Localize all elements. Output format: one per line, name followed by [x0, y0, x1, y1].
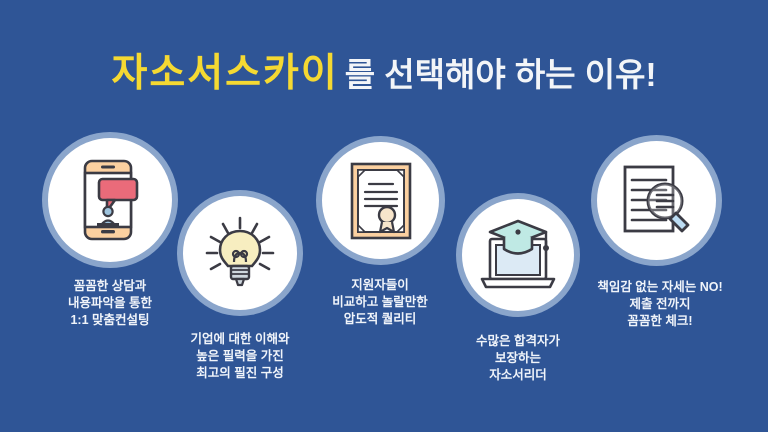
document-magnifier-icon	[619, 163, 695, 239]
title-brand: 자소서스카이	[111, 52, 338, 95]
caption-line: 자소서리더	[438, 367, 598, 384]
benefit-icon-circle-2	[183, 196, 297, 310]
caption-line: 압도적 퀄리티	[300, 311, 460, 328]
caption-line: 보장하는	[438, 350, 598, 367]
benefit-caption-1: 꼼꼼한 상담과 내용파악을 통한 1:1 맞춤컨설팅	[30, 278, 190, 329]
benefit-icon-circle-1	[48, 138, 172, 262]
infographic-slide: 자소서스카이를 선택해야 하는 이유! 꼼꼼한 상담과 내용파악	[0, 0, 768, 432]
caption-line: 꼼꼼한 상담과	[30, 278, 190, 295]
laptop-graduation-cap-icon	[476, 217, 560, 293]
caption-line: 내용파악을 통한	[30, 295, 190, 312]
benefit-caption-2: 기업에 대한 이해와 높은 필력을 가진 최고의 필진 구성	[160, 331, 320, 382]
smartphone-chat-icon	[77, 159, 143, 241]
caption-line: 비교하고 놀랄만한	[300, 294, 460, 311]
benefit-caption-3: 지원자들이 비교하고 놀랄만한 압도적 퀄리티	[300, 277, 460, 328]
lightbulb-icon	[201, 214, 279, 292]
certificate-icon	[350, 162, 412, 240]
caption-line: 지원자들이	[300, 277, 460, 294]
benefit-icon-circle-4	[462, 199, 574, 311]
caption-line: 제출 전까지	[575, 296, 745, 313]
benefit-icon-circle-3	[322, 142, 439, 259]
caption-line: 높은 필력을 가진	[160, 348, 320, 365]
caption-line: 꼼꼼한 체크!	[575, 313, 745, 330]
title-rest: 를 선택해야 하는 이유!	[345, 56, 657, 93]
benefit-caption-5: 책임감 없는 자세는 NO! 제출 전까지 꼼꼼한 체크!	[575, 279, 745, 330]
caption-line: 기업에 대한 이해와	[160, 331, 320, 348]
caption-line: 수많은 합격자가	[438, 333, 598, 350]
benefit-icon-circle-5	[597, 141, 716, 260]
caption-line: 책임감 없는 자세는 NO!	[575, 279, 745, 296]
page-title: 자소서스카이를 선택해야 하는 이유!	[0, 42, 768, 98]
caption-line: 최고의 필진 구성	[160, 365, 320, 382]
benefit-caption-4: 수많은 합격자가 보장하는 자소서리더	[438, 333, 598, 384]
caption-line: 1:1 맞춤컨설팅	[30, 312, 190, 329]
